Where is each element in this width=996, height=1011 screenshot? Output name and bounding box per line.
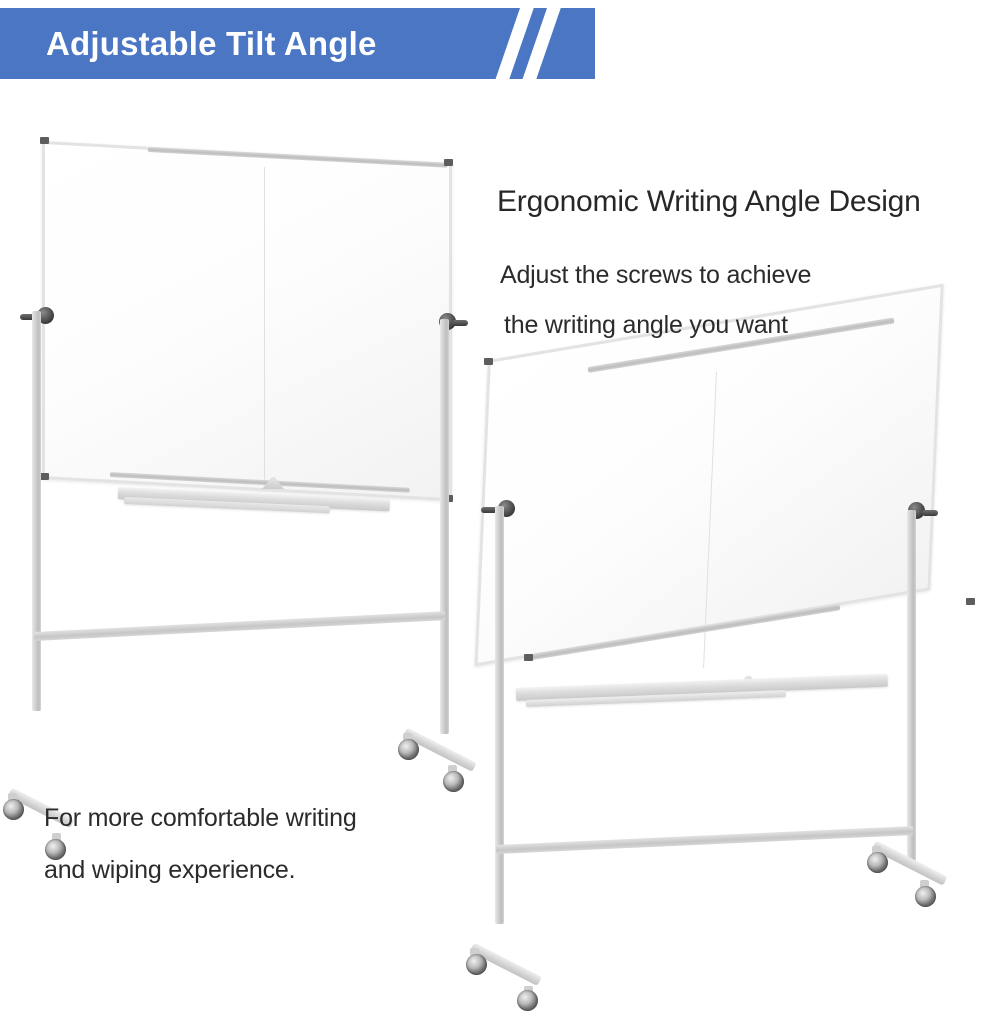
frame-corner-cap-top-right <box>444 159 453 166</box>
feature-headline: Ergonomic Writing Angle Design <box>497 185 921 219</box>
caster-back-left <box>517 990 538 1011</box>
whiteboard-panel <box>42 141 452 501</box>
frame-corner-cap-top-left <box>484 358 493 365</box>
feature-body-line-1: Adjust the screws to achieve <box>500 261 811 289</box>
frame-corner-cap-bottom-left <box>524 654 533 661</box>
footer-body-line-2: and wiping experience. <box>44 856 295 884</box>
frame-corner-cap-top-left <box>40 137 49 144</box>
tilted-whiteboard <box>470 340 996 976</box>
stand-post-right <box>907 510 916 865</box>
banner-title: Adjustable Tilt Angle <box>46 25 377 63</box>
stand-cross-brace <box>34 611 446 641</box>
panel-center-seam <box>264 167 265 485</box>
frame-corner-cap-bottom-left <box>40 473 49 480</box>
stand-post-right <box>440 319 449 734</box>
header-banner: Adjustable Tilt Angle <box>0 8 595 79</box>
feature-body: Adjust the screws to achieve the writing… <box>500 250 811 350</box>
footer-body-line-1: For more comfortable writing <box>44 804 357 832</box>
pivot-screw-right[interactable] <box>452 320 468 326</box>
caster-back-right <box>443 771 464 792</box>
caster-front-left <box>466 954 487 975</box>
caster-front-left <box>3 799 24 820</box>
footer-body: For more comfortable writing and wiping … <box>44 792 357 896</box>
caster-back-right <box>915 886 936 907</box>
caster-front-right <box>398 739 419 760</box>
upright-whiteboard <box>0 115 480 780</box>
stand-cross-brace <box>496 826 914 854</box>
pivot-screw-right[interactable] <box>922 510 938 516</box>
stand-post-left <box>495 506 504 924</box>
feature-body-line-2: the writing angle you want <box>504 300 811 350</box>
caster-front-right <box>867 852 888 873</box>
stand-post-left <box>32 311 41 711</box>
frame-corner-cap-bottom-right <box>966 598 975 605</box>
